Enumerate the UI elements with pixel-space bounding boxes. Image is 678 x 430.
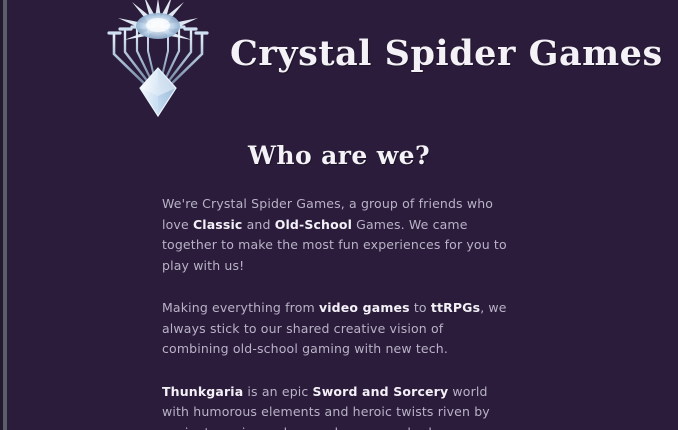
section-heading-who-are-we: Who are we? — [0, 140, 678, 172]
emphasis-text: video games — [319, 300, 410, 315]
site-header: Crystal Spider Games — [0, 0, 678, 130]
body-text: and — [242, 217, 274, 232]
site-title: Crystal Spider Games — [230, 32, 630, 76]
body-text: Making everything from — [162, 300, 319, 315]
emphasis-text: ttRPGs — [431, 300, 480, 315]
emphasis-text: Old-School — [275, 217, 352, 232]
emphasis-text: Classic — [193, 217, 243, 232]
emphasis-text: Sword and Sorcery — [313, 384, 449, 399]
emphasis-text: Thunkgaria — [162, 384, 243, 399]
paragraph: We're Crystal Spider Games, a group of f… — [162, 194, 514, 276]
paragraph: Thunkgaria is an epic Sword and Sorcery … — [162, 382, 514, 430]
paragraph: Making everything from video games to tt… — [162, 298, 514, 360]
page-root: Crystal Spider Games Who are we? We're C… — [0, 0, 678, 430]
body-text: is an epic — [243, 384, 312, 399]
crystal-spider-logo-icon[interactable] — [104, 0, 212, 124]
about-copy: We're Crystal Spider Games, a group of f… — [162, 194, 514, 430]
body-text: to — [410, 300, 431, 315]
